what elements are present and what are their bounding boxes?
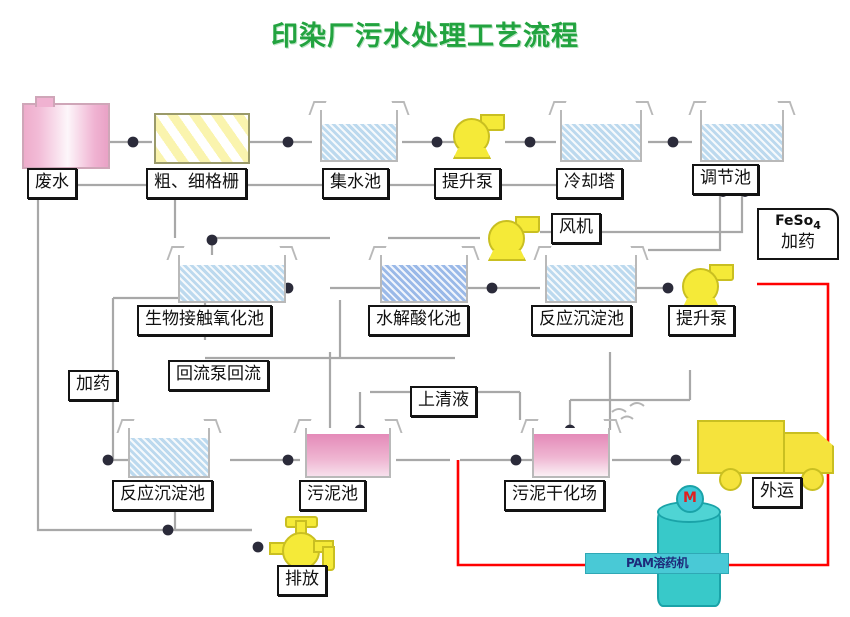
blower-icon <box>482 214 542 262</box>
node-label-collection-tank[interactable]: 集水池 <box>322 168 389 199</box>
tank-nozzle-icon <box>35 96 55 107</box>
node-label-hydrolysis-tank[interactable]: 水解酸化池 <box>368 305 469 336</box>
bar-screen-icon <box>154 113 250 164</box>
lift-pump-1-icon <box>447 112 507 160</box>
node-label-wastewater[interactable]: 废水 <box>27 168 77 199</box>
reaction-settler-1-icon <box>545 255 637 303</box>
steam-marks <box>612 403 644 419</box>
pam-dissolver-icon: M PAM溶药机 <box>657 495 717 605</box>
feso4-dosing-label: 加药 <box>781 232 815 252</box>
node-label-sludge-drying[interactable]: 污泥干化场 <box>504 480 605 511</box>
node-label-lift-pump-2[interactable]: 提升泵 <box>668 305 735 336</box>
node-label-lift-pump-1[interactable]: 提升泵 <box>434 168 501 199</box>
motor-icon: M <box>676 485 704 513</box>
node-label-sludge-tank[interactable]: 污泥池 <box>299 480 366 511</box>
node-label-feso4-dosing[interactable]: FeSo4 加药 <box>757 208 839 260</box>
node-label-equalization-tank[interactable]: 调节池 <box>692 164 759 195</box>
hydrolysis-tank-icon <box>380 255 468 303</box>
bio-contact-tank-icon <box>178 255 286 303</box>
wastewater-tank-icon <box>22 103 110 169</box>
node-label-return-pump[interactable]: 回流泵回流 <box>168 360 269 391</box>
diagram-canvas: 印染厂污水处理工艺流程 <box>0 0 850 617</box>
node-label-reaction-settler-1[interactable]: 反应沉淀池 <box>531 305 632 336</box>
node-label-bio-contact-tank[interactable]: 生物接触氧化池 <box>137 305 272 336</box>
feso4-formula: FeSo4 <box>767 213 829 232</box>
equalization-tank-icon <box>700 110 784 162</box>
node-label-discharge[interactable]: 排放 <box>277 565 327 596</box>
lift-pump-2-icon <box>676 262 736 310</box>
node-label-supernatant[interactable]: 上清液 <box>410 386 477 417</box>
sludge-tank-icon <box>305 428 391 478</box>
node-label-screens[interactable]: 粗、细格栅 <box>146 168 247 199</box>
node-label-blower[interactable]: 风机 <box>551 213 601 244</box>
node-label-cooling-tower[interactable]: 冷却塔 <box>556 168 623 199</box>
node-label-dosing[interactable]: 加药 <box>68 370 118 401</box>
collection-tank-icon <box>320 110 398 162</box>
sludge-drying-icon <box>532 428 610 478</box>
node-label-haul-away[interactable]: 外运 <box>752 477 802 508</box>
cooling-tower-icon <box>560 110 642 162</box>
node-label-reaction-settler-2[interactable]: 反应沉淀池 <box>112 480 213 511</box>
node-label-pam-dissolver[interactable]: PAM溶药机 <box>585 553 729 574</box>
reaction-settler-2-icon <box>128 428 210 478</box>
